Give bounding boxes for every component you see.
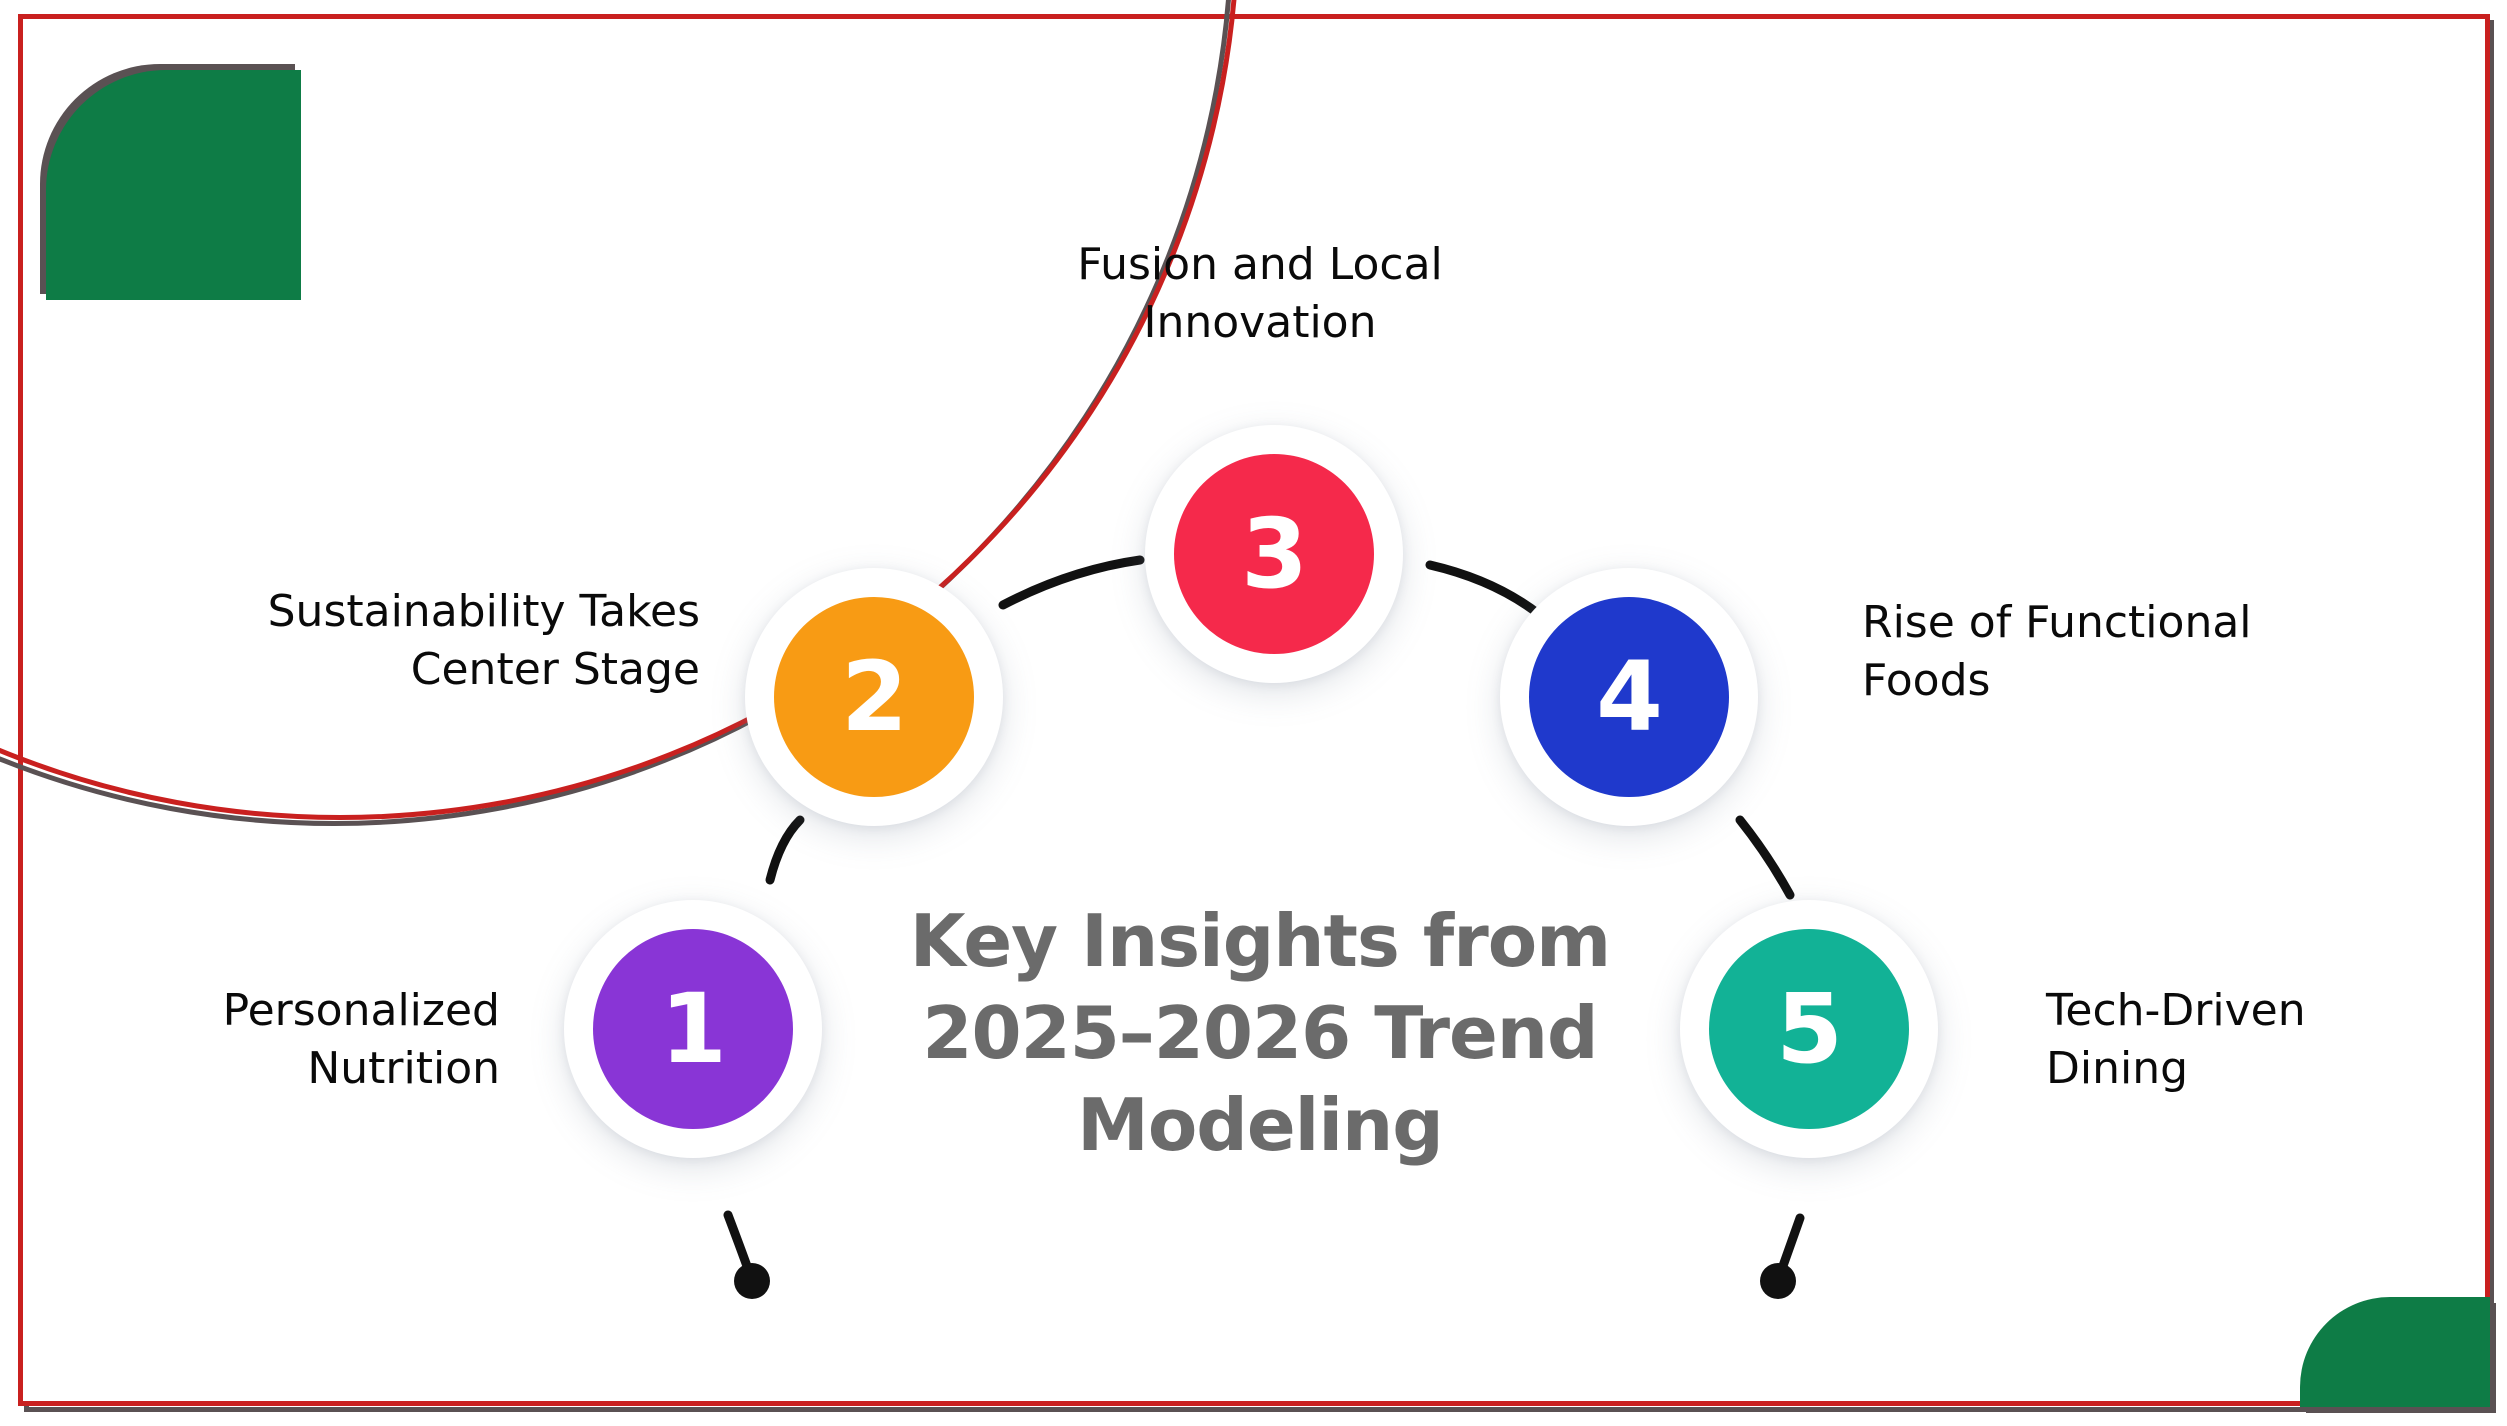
node-number-4: 4 — [1596, 649, 1662, 745]
node-circle-3[interactable]: 3 — [1145, 425, 1403, 683]
infographic-canvas: Key Insights from 2025–2026 Trend Modeli… — [0, 0, 2507, 1426]
node-label-4: Rise of Functional Foods — [1862, 594, 2422, 710]
node-number-badge-4: 4 — [1529, 597, 1729, 797]
connector-lines — [0, 0, 2507, 1426]
node-number-badge-2: 2 — [774, 597, 974, 797]
node-number-badge-3: 3 — [1174, 454, 1374, 654]
infographic-content: Key Insights from 2025–2026 Trend Modeli… — [0, 0, 2507, 1426]
node-number-badge-5: 5 — [1709, 929, 1909, 1129]
node-number-3: 3 — [1241, 506, 1307, 602]
node-circle-5[interactable]: 5 — [1680, 900, 1938, 1158]
page-title: Key Insights from 2025–2026 Trend Modeli… — [880, 895, 1640, 1171]
node-circle-1[interactable]: 1 — [564, 900, 822, 1158]
node-circle-2[interactable]: 2 — [745, 568, 1003, 826]
node-number-5: 5 — [1776, 981, 1842, 1077]
node-circle-4[interactable]: 4 — [1500, 568, 1758, 826]
node-label-2: Sustainability Takes Center Stage — [60, 583, 700, 699]
node-label-3: Fusion and Local Innovation — [980, 236, 1540, 352]
node-label-5: Tech-Driven Dining — [2046, 982, 2486, 1098]
node-label-1: Personalized Nutrition — [60, 982, 500, 1098]
node-number-1: 1 — [660, 981, 726, 1077]
node-number-2: 2 — [841, 649, 907, 745]
node-number-badge-1: 1 — [593, 929, 793, 1129]
